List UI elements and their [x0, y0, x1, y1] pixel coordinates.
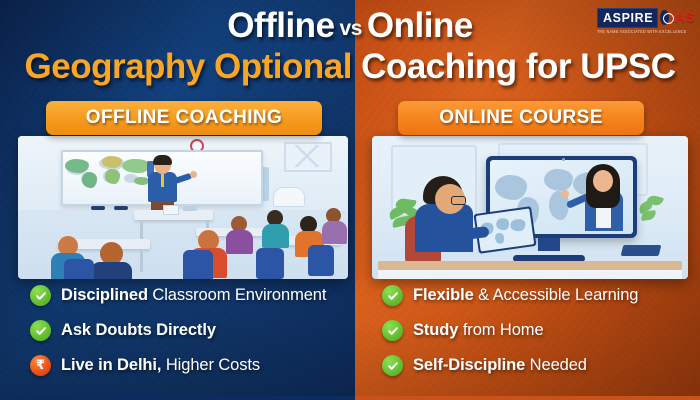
list-item-bold: Ask Doubts Directly [61, 321, 216, 339]
list-item: Self-Discipline Needed [382, 354, 682, 377]
list-item: Ask Doubts Directly [30, 319, 350, 342]
list-item-rest: Classroom Environment [148, 286, 326, 304]
plant-decor-icon [638, 196, 672, 228]
list-item-bold: Disciplined [61, 286, 148, 304]
glasses-icon [451, 196, 466, 205]
list-item-rest: & Accessible Learning [474, 286, 639, 304]
online-course-heading: ONLINE COURSE [398, 101, 644, 135]
logo-emblem-icon [660, 10, 669, 25]
offline-benefits-list: Disciplined Classroom Environment Ask Do… [30, 284, 350, 389]
title-line-1: OfflinevsOnline [0, 6, 700, 49]
title-offline: Offline [227, 6, 334, 45]
title-coaching-for-upsc: Coaching for UPSC [361, 47, 675, 86]
poster-header: OfflinevsOnline Geography Optional Coach… [0, 0, 700, 96]
check-circle-icon [382, 285, 403, 306]
bottom-strip [0, 396, 700, 400]
rupee-circle-icon: ₹ [30, 355, 51, 376]
list-item-text: Disciplined Classroom Environment [61, 286, 326, 305]
notebook [620, 245, 661, 256]
title-vs: vs [340, 17, 362, 40]
offline-coaching-heading: OFFLINE COACHING [46, 101, 322, 135]
list-item-text: Flexible & Accessible Learning [413, 286, 638, 305]
list-item-text: Self-Discipline Needed [413, 356, 587, 375]
online-benefits-list: Flexible & Accessible Learning Study fro… [382, 284, 682, 389]
logo-tagline: THE NAME ASSOCIATED WITH EXCELLENCE [597, 29, 695, 34]
online-instructor-figure [584, 164, 628, 220]
list-item-bold: Study [413, 321, 458, 339]
list-item-text: Study from Home [413, 321, 544, 340]
title-geography-optional: Geography Optional [25, 47, 352, 86]
student-figure [226, 216, 252, 252]
online-course-label: ONLINE COURSE [439, 107, 603, 129]
list-item: Flexible & Accessible Learning [382, 284, 682, 307]
check-circle-icon [30, 285, 51, 306]
list-item-bold: Live in Delhi, [61, 356, 161, 374]
list-item-rest: Needed [525, 356, 587, 374]
offline-coaching-label: OFFLINE COACHING [86, 107, 282, 129]
logo-suffix-text: IAS [671, 11, 695, 25]
check-circle-icon [30, 320, 51, 341]
logo-brand-text: ASPIRE [597, 8, 658, 28]
check-circle-icon [382, 355, 403, 376]
list-item-text: Ask Doubts Directly [61, 321, 216, 340]
student-figure [262, 210, 288, 246]
infographic-poster: OfflinevsOnline Geography Optional Coach… [0, 0, 700, 400]
list-item-text: Live in Delhi, Higher Costs [61, 356, 260, 375]
list-item: Study from Home [382, 319, 682, 342]
online-course-illustration [372, 136, 688, 279]
list-item-bold: Self-Discipline [413, 356, 525, 374]
wall-frame-decor-icon [284, 142, 332, 172]
list-item: ₹ Live in Delhi, Higher Costs [30, 354, 350, 377]
list-item: Disciplined Classroom Environment [30, 284, 350, 307]
title-line-2: Geography Optional Coaching for UPSC [0, 46, 700, 88]
student-figure [322, 208, 346, 242]
list-item-rest: from Home [458, 321, 543, 339]
aspire-ias-logo[interactable]: ASPIRE IAS THE NAME ASSOCIATED WITH EXCE… [597, 8, 695, 35]
check-circle-icon [382, 320, 403, 341]
title-online: Online [367, 6, 473, 45]
list-item-bold: Flexible [413, 286, 474, 304]
offline-classroom-illustration [18, 136, 348, 279]
list-item-rest: Higher Costs [161, 356, 260, 374]
student-figure [91, 242, 131, 279]
world-map-right-icon [63, 152, 156, 191]
